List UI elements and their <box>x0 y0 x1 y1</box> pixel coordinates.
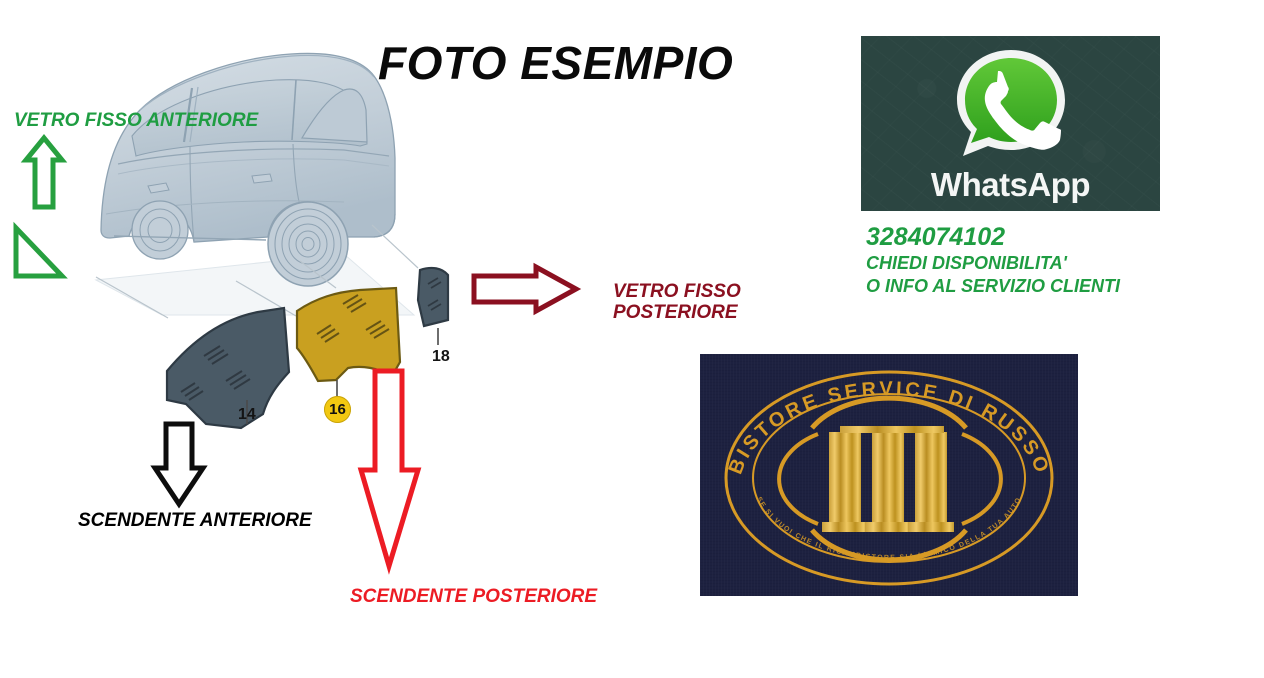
logo-monogram <box>822 426 954 532</box>
label-front-drop-glass: SCENDENTE ANTERIORE <box>78 510 312 531</box>
label-rear-fixed-glass: VETRO FISSO POSTERIORE <box>613 281 741 324</box>
down-arrow-black-icon <box>155 424 203 504</box>
diagram-canvas: FOTO ESEMPIO <box>0 0 1264 678</box>
page-title: FOTO ESEMPIO <box>378 36 733 90</box>
whatsapp-phone-bubble-icon <box>947 42 1075 171</box>
car-illustration <box>44 18 424 318</box>
part-number-17: 17 <box>380 400 398 418</box>
contact-line-2: O INFO AL SERVIZIO CLIENTI <box>866 275 1120 298</box>
part-number-18: 18 <box>432 348 450 366</box>
phone-number[interactable]: 3284074102 <box>866 222 1120 252</box>
label-rear-drop-glass: SCENDENTE POSTERIORE <box>350 586 597 607</box>
part-number-badge-16: 16 <box>324 396 351 423</box>
label-front-fixed-glass: VETRO FISSO ANTERIORE <box>14 110 258 131</box>
part-number-14: 14 <box>238 406 256 424</box>
part-14-front-drop-glass <box>167 308 289 428</box>
shop-logo-photo: MRICAMBISTORE SERVICE DI RUSSO MARCO SE … <box>700 354 1078 596</box>
right-arrow-darkred-icon <box>474 267 576 311</box>
whatsapp-banner: WhatsApp <box>861 36 1160 211</box>
contact-line-1: CHIEDI DISPONIBILITA' <box>866 252 1120 275</box>
part-17-window-regulator <box>385 371 401 398</box>
whatsapp-wordmark: WhatsApp <box>861 166 1160 204</box>
contact-block: 3284074102 CHIEDI DISPONIBILITA' O INFO … <box>866 222 1120 297</box>
